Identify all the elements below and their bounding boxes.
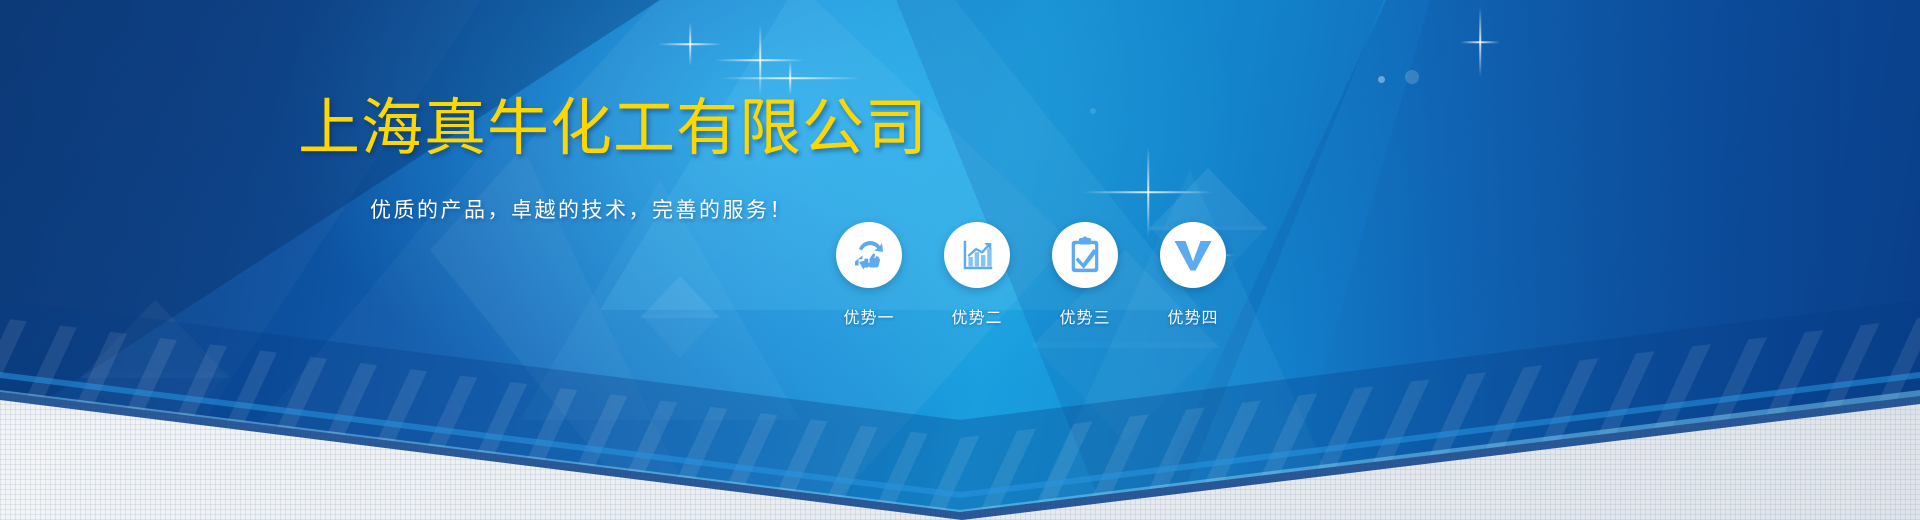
feature-icon-circle (836, 222, 902, 288)
feature-icon-circle (1160, 222, 1226, 288)
feature-item-3[interactable]: 优势三 (1042, 222, 1128, 328)
v-check-icon (1173, 238, 1213, 272)
banner-content: 上海真牛化工有限公司 优质的产品，卓越的技术，完善的服务！ 优势一 (0, 0, 1920, 520)
feature-item-2[interactable]: 优势二 (934, 222, 1020, 328)
company-slogan: 优质的产品，卓越的技术，完善的服务！ (370, 196, 793, 226)
feature-label: 优势二 (951, 304, 1002, 328)
feature-icon-circle (1052, 222, 1118, 288)
refresh-thumbs-up-icon (849, 235, 889, 275)
feature-list: 优势一 优势二 (826, 222, 1236, 328)
company-title: 上海真牛化工有限公司 (298, 96, 928, 162)
feature-item-1[interactable]: 优势一 (826, 222, 912, 328)
clipboard-check-icon (1067, 236, 1103, 274)
feature-label: 优势三 (1059, 304, 1110, 328)
feature-label: 优势一 (843, 304, 894, 328)
bar-chart-growth-icon (958, 236, 996, 274)
feature-icon-circle (944, 222, 1010, 288)
company-hero-banner: 上海真牛化工有限公司 优质的产品，卓越的技术，完善的服务！ 优势一 (0, 0, 1920, 520)
feature-item-4[interactable]: 优势四 (1150, 222, 1236, 328)
feature-label: 优势四 (1167, 304, 1218, 328)
